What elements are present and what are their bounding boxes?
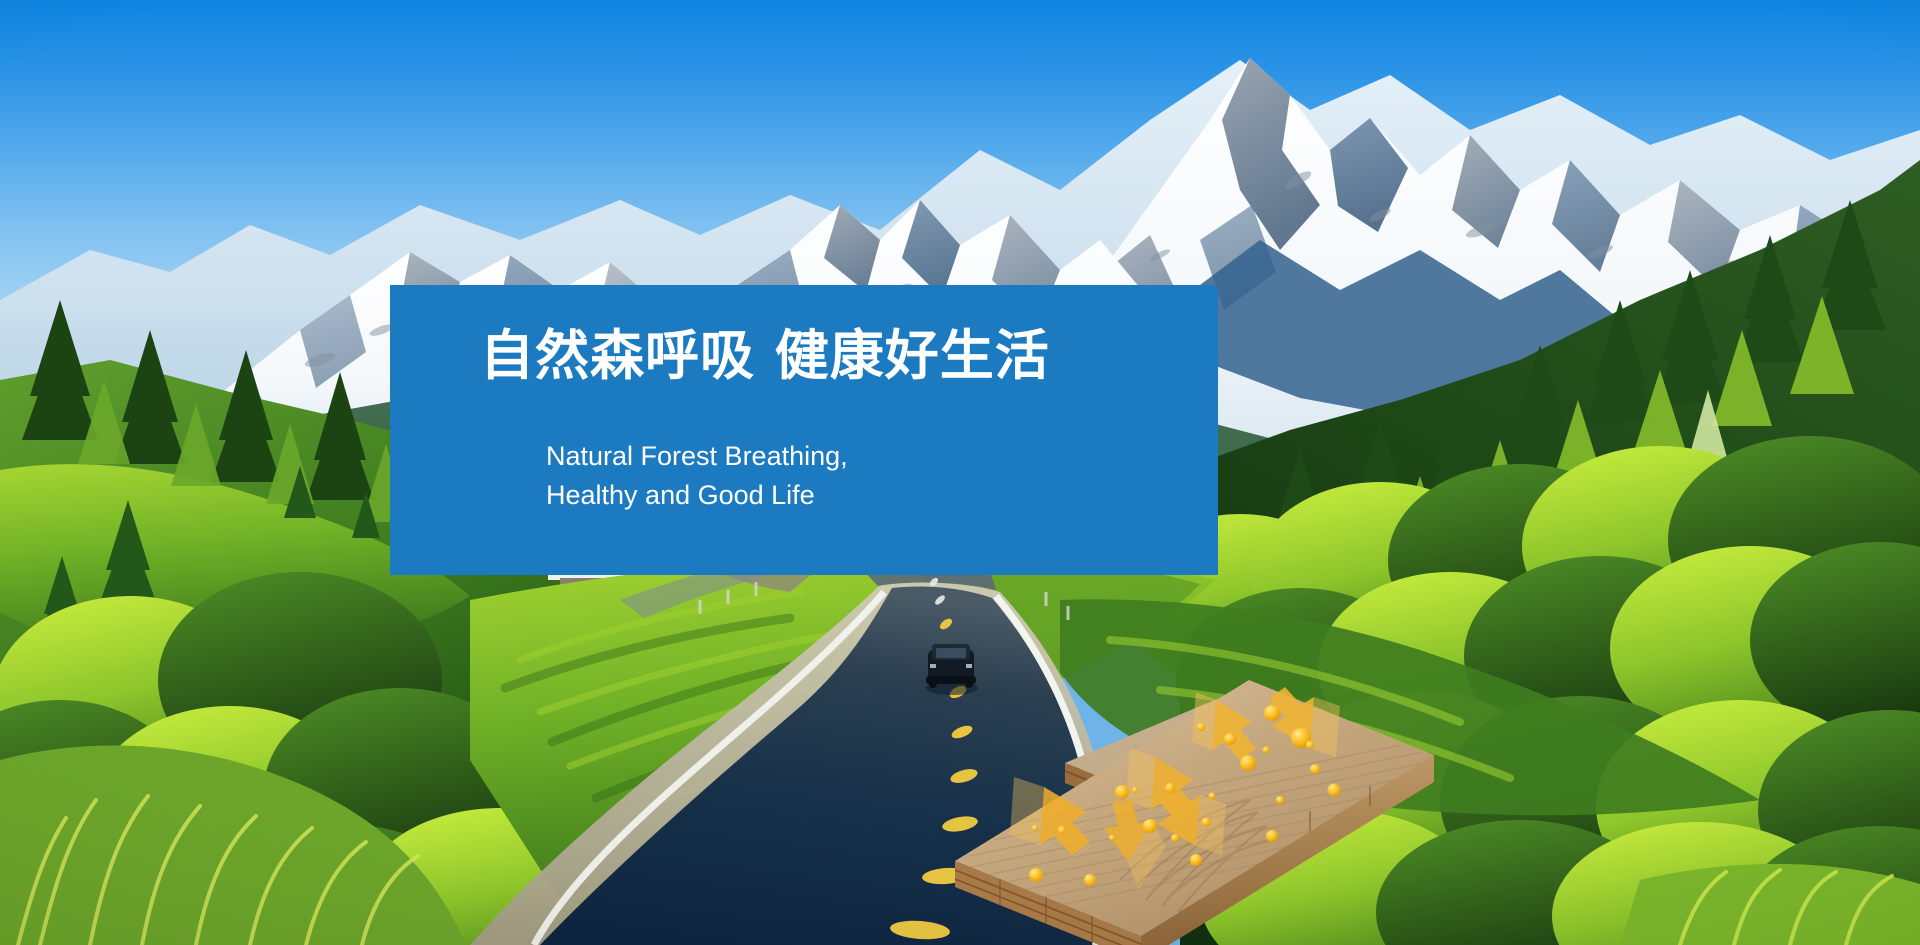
subheadline-english: Natural Forest Breathing, Healthy and Go… (546, 437, 848, 515)
headline-chinese: 自然森呼吸 健康好生活 (480, 325, 1050, 387)
car-on-road (926, 644, 978, 695)
caption-box: 自然森呼吸 健康好生活 Natural Forest Breathing, He… (390, 285, 1218, 575)
hero-banner: 自然森呼吸 健康好生活 Natural Forest Breathing, He… (0, 0, 1920, 945)
